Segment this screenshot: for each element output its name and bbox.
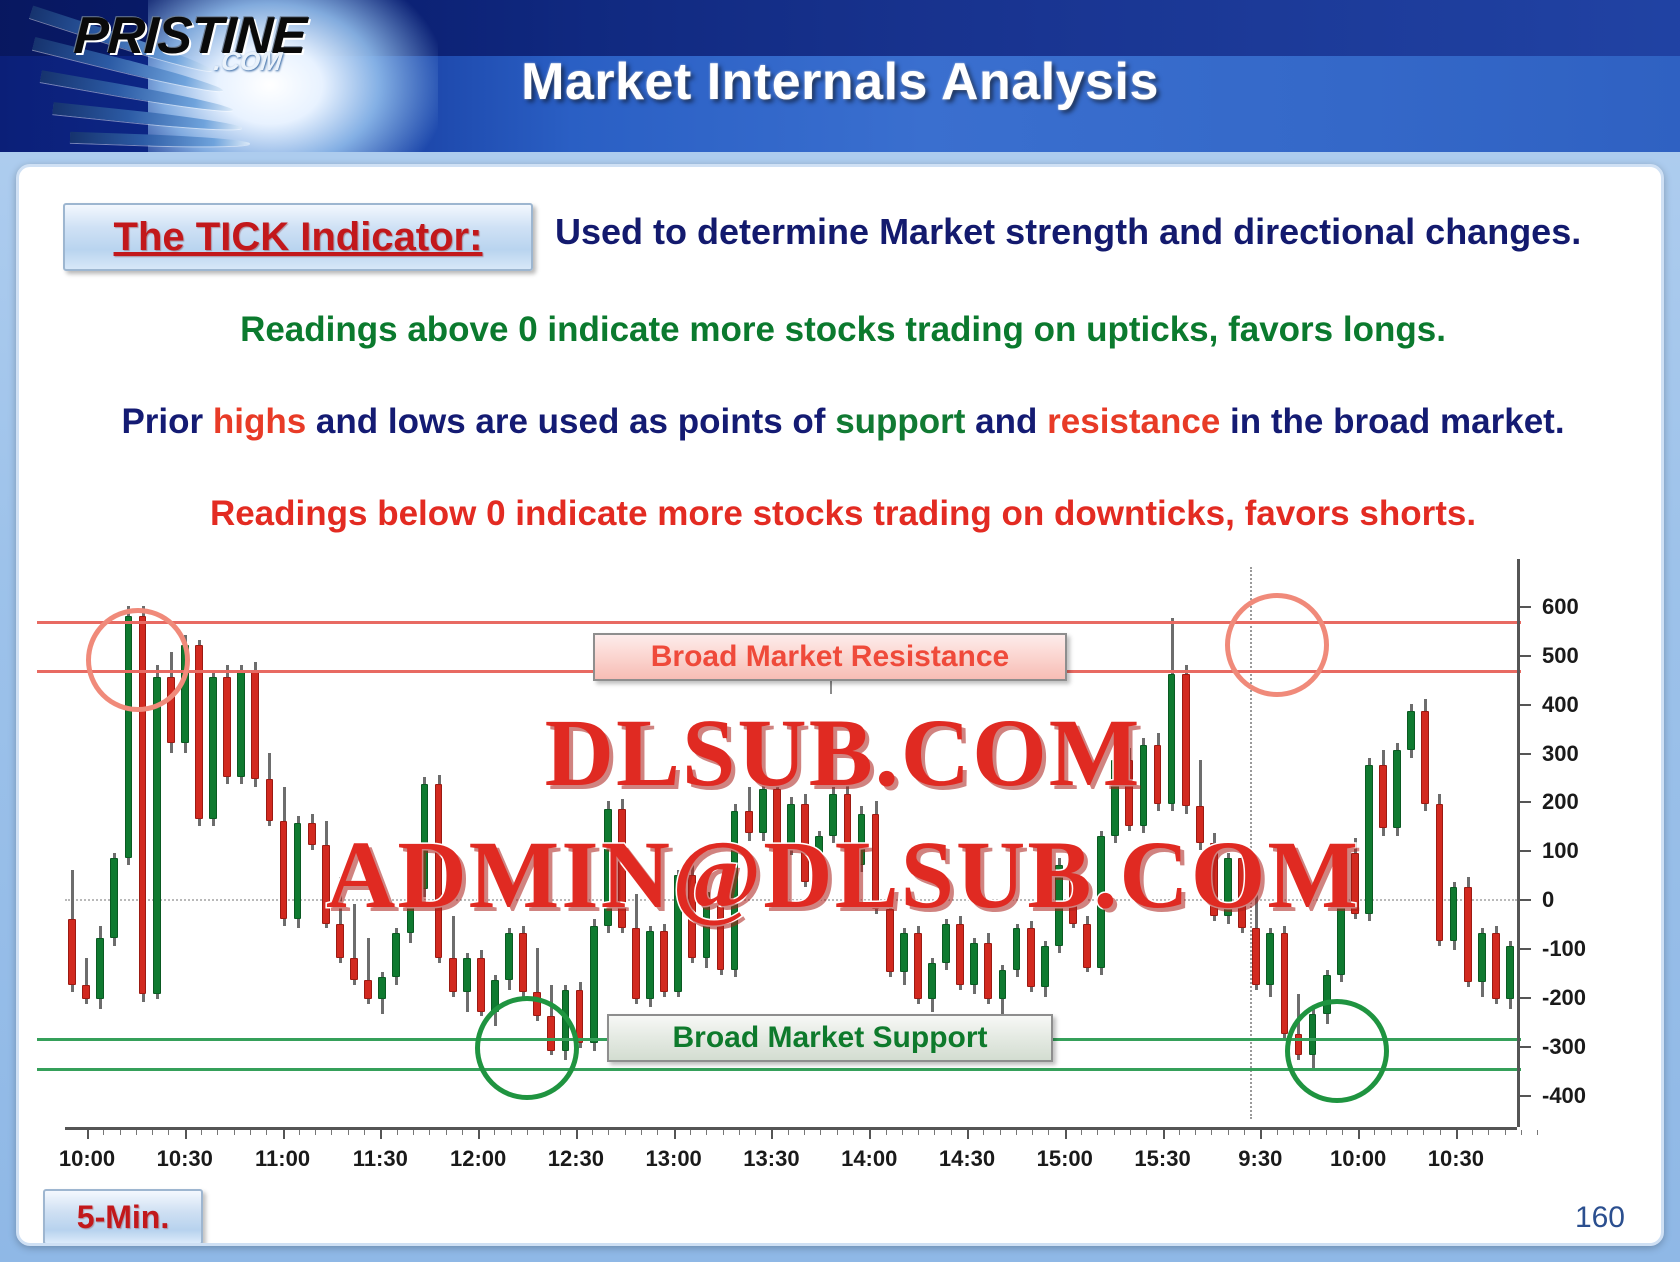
candle-body-up	[759, 789, 767, 833]
candle	[266, 567, 274, 1119]
candle-body-up	[787, 804, 795, 848]
candle-body-down	[266, 779, 274, 821]
x-axis-minor-tick	[1521, 1130, 1522, 1135]
tick-candlestick-chart: Broad Market Resistance Broad Market Sup…	[37, 567, 1647, 1187]
candle-body-down	[519, 933, 527, 992]
candle	[1125, 567, 1133, 1119]
x-axis-minor-tick	[1016, 1130, 1017, 1135]
candle	[1168, 567, 1176, 1119]
x-axis-minor-tick	[1391, 1130, 1392, 1135]
x-axis-tick-label: 11:30	[353, 1146, 408, 1172]
candle-body-up	[1140, 745, 1148, 826]
x-axis-minor-tick	[837, 1130, 838, 1135]
candle-body-down	[773, 789, 781, 848]
candle-body-up	[407, 889, 415, 933]
x-axis-tick-mark	[1358, 1130, 1360, 1139]
candle-body-down	[68, 919, 76, 985]
x-axis-tick-label: 14:00	[841, 1146, 897, 1172]
candle	[421, 567, 429, 1119]
candle-body-down	[844, 794, 852, 865]
candle-body-down	[280, 821, 288, 919]
candle-body-down	[745, 811, 753, 833]
x-axis-tick-label: 10:30	[1428, 1146, 1484, 1172]
candle-body-up	[646, 931, 654, 999]
candle	[1083, 567, 1091, 1119]
candle	[1182, 567, 1190, 1119]
x-axis-minor-tick	[641, 1130, 642, 1135]
candle	[195, 567, 203, 1119]
x-axis-minor-tick	[1488, 1130, 1489, 1135]
candle-body-up	[858, 814, 866, 865]
x-axis-minor-tick	[788, 1130, 789, 1135]
x-axis-tick-label: 13:30	[743, 1146, 799, 1172]
candle-body-down	[1492, 933, 1500, 999]
resistance-touch-2	[1225, 593, 1329, 697]
x-axis-minor-tick	[446, 1130, 447, 1135]
candle-body-up	[590, 926, 598, 1043]
x-axis-tick-mark	[1065, 1130, 1067, 1139]
x-axis-minor-tick	[152, 1130, 153, 1135]
x-axis-minor-tick	[1342, 1130, 1343, 1135]
x-axis-minor-tick	[1472, 1130, 1473, 1135]
candle-body-down	[251, 670, 259, 780]
candle	[1097, 567, 1105, 1119]
candle	[209, 567, 217, 1119]
x-axis-minor-tick	[1211, 1130, 1212, 1135]
resistance-flag: Broad Market Resistance	[593, 633, 1067, 681]
x-axis-minor-tick	[902, 1130, 903, 1135]
x-axis-minor-tick	[1326, 1130, 1327, 1135]
candle-body-up	[1393, 750, 1401, 828]
x-axis-tick-label: 15:00	[1037, 1146, 1093, 1172]
candle	[1421, 567, 1429, 1119]
x-axis-minor-tick	[1146, 1130, 1147, 1135]
tick-indicator-description: Used to determine Market strength and di…	[555, 211, 1581, 253]
x-axis-minor-tick	[1407, 1130, 1408, 1135]
candle	[1436, 567, 1444, 1119]
candle-body-down	[1027, 928, 1035, 987]
mid-part1: Prior	[121, 402, 212, 441]
x-axis-minor-tick	[625, 1130, 626, 1135]
x-axis-tick-mark	[283, 1130, 285, 1139]
x-axis-minor-tick	[201, 1130, 202, 1135]
candle	[1154, 567, 1162, 1119]
x-axis-tick-mark	[1260, 1130, 1262, 1139]
candle	[435, 567, 443, 1119]
x-axis-minor-tick	[494, 1130, 495, 1135]
candle	[1450, 567, 1458, 1119]
candle-body-down	[1351, 853, 1359, 914]
candle	[449, 567, 457, 1119]
x-axis-tick-label: 12:30	[548, 1146, 604, 1172]
tick-indicator-row: The TICK Indicator: Used to determine Ma…	[41, 203, 1641, 275]
x-axis-minor-tick	[1244, 1130, 1245, 1135]
candle-body-down	[82, 985, 90, 1000]
timeframe-badge: 5-Min.	[43, 1189, 203, 1245]
candle-body-up	[392, 933, 400, 977]
candle-body-down	[336, 924, 344, 958]
candle-body-up	[505, 933, 513, 979]
slide-header: PRISTINE .COM Market Internals Analysis	[0, 0, 1680, 152]
candle-body-down	[1379, 765, 1387, 829]
candle	[1506, 567, 1514, 1119]
support-resistance-statement: Prior highs and lows are used as points …	[19, 402, 1664, 442]
candle-body-up	[1337, 853, 1345, 975]
x-axis-minor-tick	[429, 1130, 430, 1135]
x-axis-minor-tick	[364, 1130, 365, 1135]
candle	[237, 567, 245, 1119]
x-axis-minor-tick	[755, 1130, 756, 1135]
support-touch-1	[475, 996, 579, 1100]
candle-body-up	[1097, 836, 1105, 968]
candle-body-up	[928, 963, 936, 1000]
candle-body-up	[1168, 674, 1176, 803]
x-axis-minor-tick	[560, 1130, 561, 1135]
x-axis-minor-tick	[1228, 1130, 1229, 1135]
x-axis-minor-tick	[853, 1130, 854, 1135]
mid-part2: and lows are used as points of	[306, 402, 835, 441]
candle-body-down	[322, 845, 330, 923]
x-axis-minor-tick	[543, 1130, 544, 1135]
candle-body-down	[717, 892, 725, 970]
x-axis-minor-tick	[1081, 1130, 1082, 1135]
candle	[1478, 567, 1486, 1119]
candle-body-up	[1450, 887, 1458, 941]
candle-body-down	[1069, 865, 1077, 924]
candle-body-down	[618, 809, 626, 929]
candle	[1210, 567, 1218, 1119]
candle	[350, 567, 358, 1119]
candle-body-up	[829, 794, 837, 836]
x-axis-minor-tick	[168, 1130, 169, 1135]
candle-body-down	[1281, 933, 1289, 1033]
candle	[223, 567, 231, 1119]
support-touch-2	[1285, 999, 1389, 1103]
x-axis-minor-tick	[1309, 1130, 1310, 1135]
candle-body-up	[463, 958, 471, 992]
resistance-touch-1	[86, 608, 190, 712]
candle-body-down	[435, 784, 443, 957]
candle-body-up	[604, 809, 612, 926]
candle-body-up	[209, 677, 217, 819]
x-axis-minor-tick	[1179, 1130, 1180, 1135]
candle-body-down	[914, 933, 922, 999]
x-axis-tick-label: 11:00	[255, 1146, 310, 1172]
page-title: Market Internals Analysis	[0, 52, 1680, 112]
x-axis-tick-mark	[185, 1130, 187, 1139]
slide-root: PRISTINE .COM Market Internals Analysis …	[0, 0, 1680, 1262]
candle-body-up	[970, 943, 978, 985]
candle-body-down	[308, 823, 316, 845]
candle	[1393, 567, 1401, 1119]
x-axis-tick-label: 12:00	[450, 1146, 506, 1172]
candle-body-down	[688, 875, 696, 958]
x-axis-tick-label: 9:30	[1238, 1146, 1282, 1172]
candle-body-down	[956, 924, 964, 985]
x-axis-tick-mark	[967, 1130, 969, 1139]
x-axis-minor-tick	[1423, 1130, 1424, 1135]
x-axis-tick-mark	[674, 1130, 676, 1139]
tick-indicator-label: The TICK Indicator:	[114, 215, 483, 260]
x-axis-minor-tick	[1130, 1130, 1131, 1135]
uptick-statement: Readings above 0 indicate more stocks tr…	[19, 310, 1664, 350]
x-axis-minor-tick	[1505, 1130, 1506, 1135]
candle-body-up	[1013, 928, 1021, 970]
candle	[378, 567, 386, 1119]
candle-body-down	[984, 943, 992, 999]
candle	[336, 567, 344, 1119]
x-axis-minor-tick	[397, 1130, 398, 1135]
x-axis-minor-tick	[723, 1130, 724, 1135]
x-axis-minor-tick	[804, 1130, 805, 1135]
candle-body-down	[449, 958, 457, 992]
candle-body-up	[900, 933, 908, 972]
x-axis-minor-tick	[592, 1130, 593, 1135]
candle-body-up	[999, 970, 1007, 999]
x-axis-minor-tick	[1097, 1130, 1098, 1135]
candle-body-down	[1421, 711, 1429, 804]
x-axis-minor-tick	[1277, 1130, 1278, 1135]
x-axis-minor-tick	[739, 1130, 740, 1135]
x-axis-minor-tick	[299, 1130, 300, 1135]
candle-body-down	[1252, 928, 1260, 984]
candle	[308, 567, 316, 1119]
x-axis-tick-mark	[576, 1130, 578, 1139]
candle-body-down	[660, 931, 668, 992]
candle-body-up	[942, 924, 950, 963]
slide-body-card: The TICK Indicator: Used to determine Ma…	[16, 164, 1664, 1246]
x-axis-minor-tick	[1000, 1130, 1001, 1135]
candle	[1140, 567, 1148, 1119]
x-axis-tick-mark	[771, 1130, 773, 1139]
x-axis-minor-tick	[820, 1130, 821, 1135]
candle-body-down	[1083, 924, 1091, 968]
x-axis-minor-tick	[462, 1130, 463, 1135]
x-axis-minor-tick	[250, 1130, 251, 1135]
candle-body-up	[1266, 933, 1274, 984]
chart-y-axis: 6005004003002001000-100-200-300-400	[1517, 559, 1647, 1127]
downtick-statement: Readings below 0 indicate more stocks tr…	[19, 494, 1664, 534]
x-axis-minor-tick	[331, 1130, 332, 1135]
x-axis-minor-tick	[348, 1130, 349, 1135]
x-axis-tick-label: 10:00	[1330, 1146, 1386, 1172]
x-axis-tick-mark	[1456, 1130, 1458, 1139]
x-axis-tick-label: 10:30	[157, 1146, 213, 1172]
candle-body-up	[1407, 711, 1415, 750]
candle-body-up	[1506, 946, 1514, 1000]
candle-body-down	[477, 958, 485, 1012]
x-axis-minor-tick	[266, 1130, 267, 1135]
x-axis-minor-tick	[103, 1130, 104, 1135]
candle-body-down	[632, 928, 640, 999]
candle-body-up	[703, 892, 711, 958]
candle	[407, 567, 415, 1119]
x-axis-tick-mark	[869, 1130, 871, 1139]
candle-body-down	[350, 958, 358, 980]
candle	[1407, 567, 1415, 1119]
candle	[1492, 567, 1500, 1119]
support-flag: Broad Market Support	[607, 1014, 1053, 1062]
x-axis-minor-tick	[608, 1130, 609, 1135]
candle-body-up	[1041, 946, 1049, 988]
x-axis-minor-tick	[983, 1130, 984, 1135]
x-axis-minor-tick	[706, 1130, 707, 1135]
candle-body-down	[1154, 745, 1162, 804]
candle-body-down	[364, 980, 372, 1000]
x-axis-minor-tick	[315, 1130, 316, 1135]
x-axis-minor-tick	[527, 1130, 528, 1135]
x-axis-minor-tick	[1293, 1130, 1294, 1135]
x-axis-minor-tick	[886, 1130, 887, 1135]
x-axis-tick-label: 13:00	[646, 1146, 702, 1172]
x-axis-minor-tick	[1537, 1130, 1538, 1135]
candle-body-up	[378, 977, 386, 999]
x-axis-minor-tick	[951, 1130, 952, 1135]
candle-body-up	[815, 836, 823, 882]
x-axis-tick-mark	[87, 1130, 89, 1139]
x-axis-minor-tick	[217, 1130, 218, 1135]
candle	[1069, 567, 1077, 1119]
x-axis-tick-mark	[380, 1130, 382, 1139]
tick-indicator-label-box: The TICK Indicator:	[63, 203, 533, 271]
candle-body-down	[1196, 806, 1204, 843]
candle-body-down	[1125, 760, 1133, 826]
x-axis-minor-tick	[1048, 1130, 1049, 1135]
x-axis-tick-label: 14:30	[939, 1146, 995, 1172]
x-axis-minor-tick	[934, 1130, 935, 1135]
candle	[392, 567, 400, 1119]
candle-body-up	[731, 811, 739, 970]
x-axis-tick-label: 15:30	[1134, 1146, 1190, 1172]
candle-body-up	[421, 784, 429, 889]
candle	[294, 567, 302, 1119]
candle-body-up	[96, 938, 104, 999]
x-axis-minor-tick	[1374, 1130, 1375, 1135]
chart-x-axis: 10:0010:3011:0011:3012:0012:3013:0013:30…	[65, 1127, 1517, 1185]
candle-body-down	[1238, 858, 1246, 929]
candle-body-down	[1182, 674, 1190, 806]
mid-resistance: resistance	[1047, 402, 1220, 441]
candle-body-up	[674, 875, 682, 992]
candle-body-down	[223, 677, 231, 777]
x-axis-minor-tick	[1032, 1130, 1033, 1135]
x-axis-minor-tick	[511, 1130, 512, 1135]
candle-body-down	[1210, 843, 1218, 916]
candle	[364, 567, 372, 1119]
x-axis-minor-tick	[120, 1130, 121, 1135]
candle-body-up	[110, 858, 118, 939]
candle	[1196, 567, 1204, 1119]
candle-body-up	[1478, 933, 1486, 982]
x-axis-tick-mark	[478, 1130, 480, 1139]
mid-support: support	[835, 402, 965, 441]
x-axis-minor-tick	[1440, 1130, 1441, 1135]
mid-highs: highs	[213, 402, 306, 441]
candle-body-down	[886, 909, 894, 973]
x-axis-minor-tick	[1195, 1130, 1196, 1135]
resistance-flag-leader	[830, 681, 832, 694]
candle-body-down	[1436, 804, 1444, 941]
x-axis-minor-tick	[413, 1130, 414, 1135]
candle	[463, 567, 471, 1119]
candle-body-up	[1224, 858, 1232, 917]
page-number: 160	[1575, 1201, 1625, 1235]
candle-body-down	[872, 814, 880, 909]
candle	[322, 567, 330, 1119]
x-axis-minor-tick	[690, 1130, 691, 1135]
x-axis-tick-mark	[1163, 1130, 1165, 1139]
candle-body-up	[1365, 765, 1373, 914]
candle	[68, 567, 76, 1119]
x-axis-minor-tick	[234, 1130, 235, 1135]
x-axis-minor-tick	[136, 1130, 137, 1135]
candle-body-down	[801, 804, 809, 882]
x-axis-minor-tick	[918, 1130, 919, 1135]
mid-part3: and	[965, 402, 1047, 441]
candle-body-down	[1464, 887, 1472, 982]
candle	[280, 567, 288, 1119]
candle	[1111, 567, 1119, 1119]
candle-body-up	[1055, 865, 1063, 946]
candle	[1464, 567, 1472, 1119]
candle-body-up	[1111, 760, 1119, 836]
x-axis-tick-label: 10:00	[59, 1146, 115, 1172]
mid-part4: in the broad market.	[1220, 402, 1564, 441]
candle-body-up	[294, 823, 302, 918]
x-axis-minor-tick	[1114, 1130, 1115, 1135]
x-axis-minor-tick	[657, 1130, 658, 1135]
candle	[251, 567, 259, 1119]
candle-body-up	[153, 677, 161, 995]
candle-body-up	[237, 670, 245, 777]
